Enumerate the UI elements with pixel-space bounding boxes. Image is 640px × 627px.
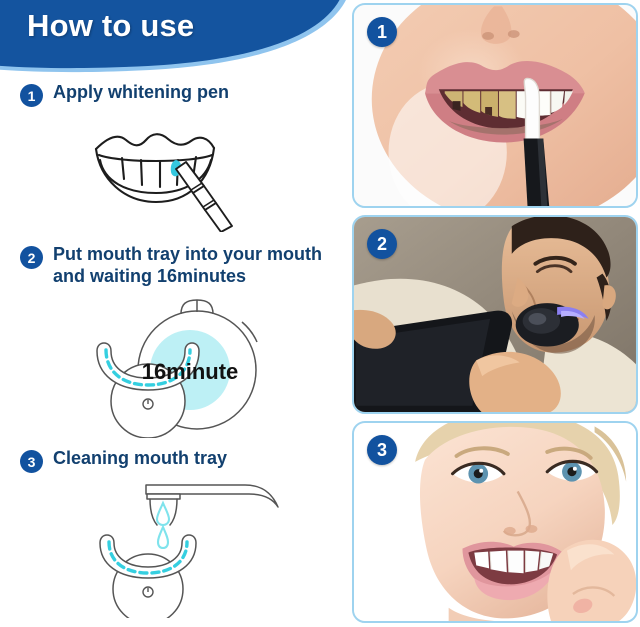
photo-column: 1 bbox=[352, 3, 638, 625]
photo-panel-3: 3 bbox=[352, 421, 638, 623]
step-1: 1 Apply whitening pen bbox=[0, 82, 346, 237]
timer-label: 16minute bbox=[142, 359, 239, 384]
step-3-label: Cleaning mouth tray bbox=[53, 448, 227, 470]
step-2-illustration: 16minute bbox=[0, 288, 346, 443]
photo-2-badge: 2 bbox=[367, 229, 397, 259]
step-1-heading: 1 Apply whitening pen bbox=[0, 82, 346, 107]
header-banner: How to use bbox=[0, 0, 372, 78]
step-1-label: Apply whitening pen bbox=[53, 82, 229, 104]
step-1-illustration bbox=[0, 107, 346, 237]
how-to-use-infographic: How to use 1 Apply whitening pen bbox=[0, 0, 640, 627]
step-1-badge: 1 bbox=[20, 84, 43, 107]
step-3-heading: 3 Cleaning mouth tray bbox=[0, 448, 346, 473]
step-3: 3 Cleaning mouth tray bbox=[0, 448, 346, 623]
step-2-heading: 2 Put mouth tray into your mouth and wai… bbox=[0, 244, 346, 288]
photo-panel-1: 1 bbox=[352, 3, 638, 208]
step-3-illustration bbox=[0, 473, 346, 623]
instructions-column: 1 Apply whitening pen bbox=[0, 78, 346, 627]
photo-panel-2: 2 bbox=[352, 215, 638, 414]
step-3-badge: 3 bbox=[20, 450, 43, 473]
page-title: How to use bbox=[27, 8, 194, 44]
step-2-label: Put mouth tray into your mouth and waiti… bbox=[53, 244, 346, 288]
photo-3-badge: 3 bbox=[367, 435, 397, 465]
step-2-badge: 2 bbox=[20, 246, 43, 269]
step-2: 2 Put mouth tray into your mouth and wai… bbox=[0, 244, 346, 443]
photo-1-badge: 1 bbox=[367, 17, 397, 47]
